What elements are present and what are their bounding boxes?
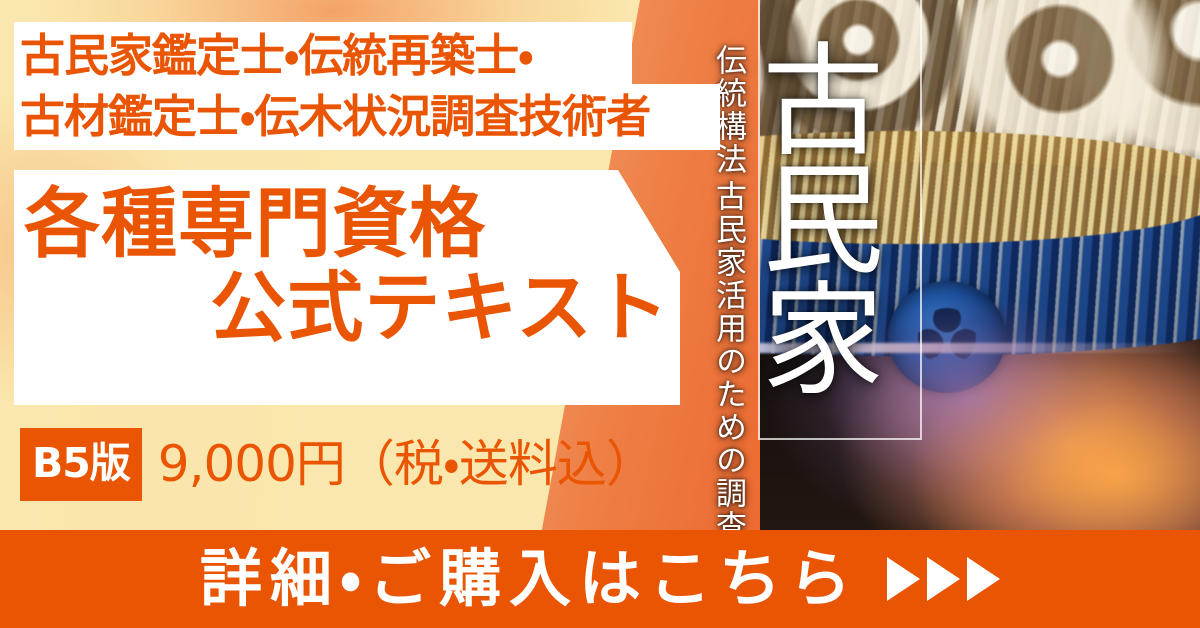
qualification-line-1: 古民家鑑定士・伝統再築士・ <box>20 26 720 87</box>
triangle-right-icon <box>967 557 1000 601</box>
qualification-line-2: 古材鑑定士・伝木状況調査技術者 <box>20 87 720 148</box>
page-title: 各種専門資格 公式テキスト <box>20 182 680 349</box>
cta-button-bar[interactable]: 詳細・ご購入はこちら <box>0 530 1200 628</box>
cover-title-text: 古民家 <box>762 2 918 442</box>
cta-arrow-group <box>887 557 1000 601</box>
price-row: B5版 9,000円（税・送料込） <box>20 425 655 503</box>
qualification-list: 古民家鑑定士・伝統再築士・ 古材鑑定士・伝木状況調査技術者 <box>20 26 720 148</box>
promo-banner[interactable]: 古民家 伝統構法 古民家活用のための調査と再生の 古民家鑑定士・伝統再築士・ 古… <box>0 0 1200 628</box>
cta-label: 詳細・ご購入はこちら <box>200 548 859 610</box>
triangle-right-icon <box>927 557 960 601</box>
headline-line-1: 各種専門資格 <box>20 182 680 266</box>
headline-line-2: 公式テキスト <box>20 266 680 350</box>
triangle-right-icon <box>887 557 920 601</box>
price-text: 9,000円（税・送料込） <box>158 439 655 489</box>
size-badge: B5版 <box>20 428 142 501</box>
